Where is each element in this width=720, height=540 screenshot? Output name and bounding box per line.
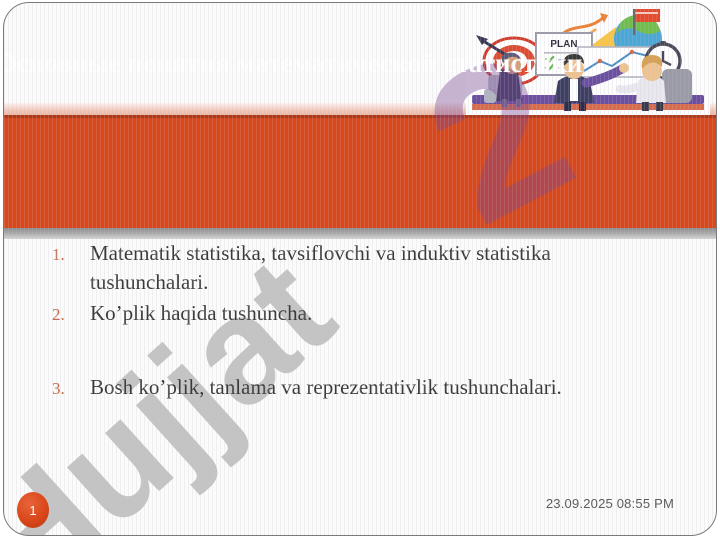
list-item-text: Ko’plik haqida tushuncha. — [90, 299, 312, 328]
list-item-text: Matematik statistika, tavsiflovchi va in… — [90, 239, 580, 297]
list-item-number: 2. — [52, 299, 90, 329]
list-item: 1. Matematik statistika, tavsiflovchi va… — [4, 239, 717, 297]
page-title: Основные понятия математической статисти… — [3, 48, 696, 79]
list-item: 3. Bosh ko’plik, tanlama va reprezentati… — [4, 373, 717, 403]
list-item-number: 3. — [52, 373, 90, 403]
banner-top-line — [4, 115, 717, 118]
bullet-list: 1. Matematik statistika, tavsiflovchi va… — [4, 239, 717, 403]
list-item-text: Bosh ko’plik, tanlama va reprezentativli… — [90, 373, 562, 402]
list-item-number: 1. — [52, 239, 90, 269]
slide-number-badge: 1 — [17, 492, 49, 528]
footer-date: 23.09.2025 08:55 PM — [546, 496, 674, 511]
list-item: 2. Ko’plik haqida tushuncha. — [4, 299, 717, 329]
banner-bottom-gray-strip — [4, 228, 717, 239]
slide-frame: PLAN — [3, 2, 717, 536]
title-banner — [4, 115, 717, 228]
slide-body: 1. Matematik statistika, tavsiflovchi va… — [4, 239, 717, 479]
presentation-slide: PLAN — [0, 0, 720, 540]
